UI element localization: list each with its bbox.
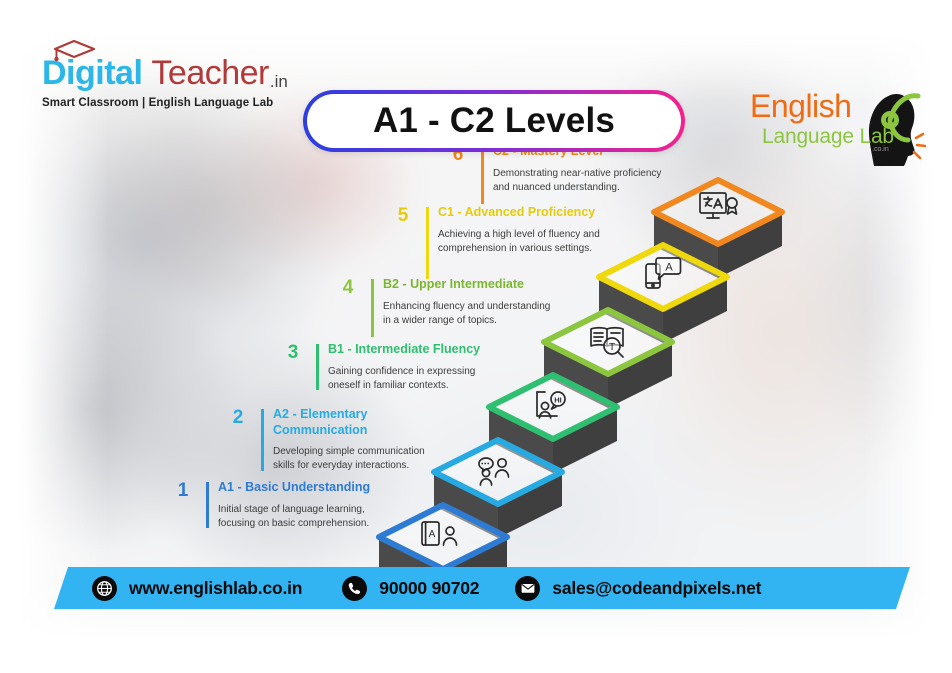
level-divider-6 bbox=[481, 146, 484, 204]
footer-website-text: www.englishlab.co.in bbox=[129, 578, 302, 599]
level-divider-3 bbox=[316, 344, 319, 390]
level-divider-5 bbox=[426, 207, 429, 279]
level-description-6: Demonstrating near-native proficiency an… bbox=[493, 167, 669, 195]
svg-text:HI: HI bbox=[554, 395, 562, 404]
level-number-3: 3 bbox=[278, 342, 308, 364]
level-heading-3: B1 - Intermediate Fluency bbox=[328, 342, 504, 358]
level-heading-4: B2 - Upper Intermediate bbox=[383, 277, 559, 293]
level-heading-1: A1 - Basic Understanding bbox=[218, 480, 394, 496]
level-number-4: 4 bbox=[333, 277, 363, 299]
level-number-5: 5 bbox=[388, 205, 418, 227]
page-title: A1 - C2 Levels bbox=[373, 101, 615, 141]
graduation-cap-icon bbox=[52, 38, 98, 64]
footer-phone-text: 90000 90702 bbox=[379, 578, 479, 599]
footer-email-text: sales@codeandpixels.net bbox=[552, 578, 761, 599]
level-description-1: Initial stage of language learning, focu… bbox=[218, 503, 394, 531]
svg-text:T: T bbox=[609, 342, 615, 353]
svg-text:A: A bbox=[429, 529, 436, 540]
ell-tld: .co.in bbox=[872, 146, 889, 153]
level-heading-2: A2 - Elementary Communication bbox=[273, 407, 449, 438]
level-divider-1 bbox=[206, 482, 209, 528]
envelope-icon bbox=[515, 576, 540, 601]
ell-line1: English bbox=[750, 88, 851, 125]
level-number-1: 1 bbox=[168, 480, 198, 502]
svg-text:A: A bbox=[665, 262, 673, 274]
level-divider-2 bbox=[261, 409, 264, 471]
footer-website[interactable]: www.englishlab.co.in bbox=[92, 576, 302, 601]
level-description-2: Developing simple communication skills f… bbox=[273, 445, 449, 473]
level-heading-5: C1 - Advanced Proficiency bbox=[438, 205, 614, 221]
globe-icon bbox=[92, 576, 117, 601]
level-description-5: Achieving a high level of fluency and co… bbox=[438, 228, 614, 256]
title-pill: A1 - C2 Levels bbox=[303, 90, 685, 152]
digital-teacher-logo: Digital Teacher .in Smart Classroom | En… bbox=[42, 56, 286, 109]
footer-email[interactable]: sales@codeandpixels.net bbox=[515, 576, 761, 601]
logo-tld: .in bbox=[270, 73, 288, 90]
phone-icon bbox=[342, 576, 367, 601]
footer-contact-bar: www.englishlab.co.in 90000 90702 bbox=[54, 567, 910, 609]
logo-word-teacher: Teacher bbox=[151, 56, 268, 90]
english-language-lab-logo: English Language Lab .co.in bbox=[748, 82, 928, 168]
infographic-poster: A HI bbox=[18, 32, 934, 640]
level-description-4: Enhancing fluency and understanding in a… bbox=[383, 300, 559, 328]
level-number-2: 2 bbox=[223, 407, 253, 429]
level-divider-4 bbox=[371, 279, 374, 337]
logo-tagline: Smart Classroom | English Language Lab bbox=[42, 97, 286, 109]
footer-phone[interactable]: 90000 90702 bbox=[342, 576, 479, 601]
level-description-3: Gaining confidence in expressing oneself… bbox=[328, 365, 504, 393]
